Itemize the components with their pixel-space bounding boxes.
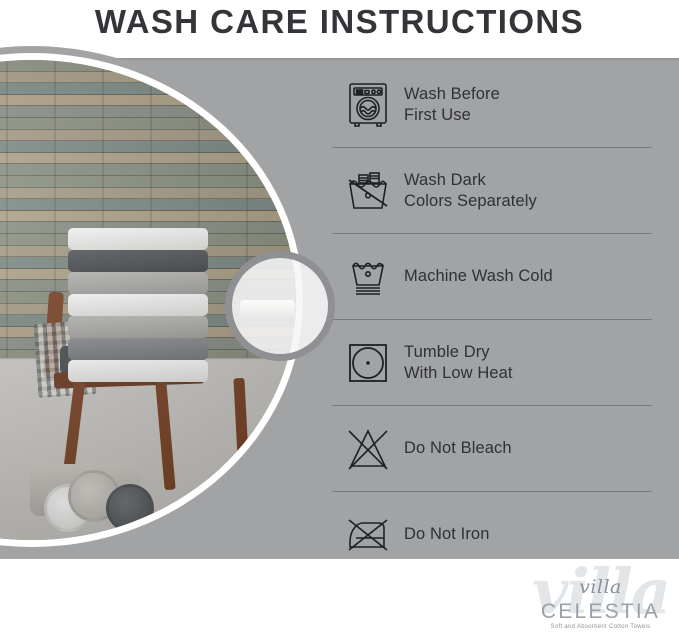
no-mixed-colors-wash-basin-icon [332, 167, 404, 215]
brand-logo: villa villa CELESTIA Soft and Absorbent … [528, 560, 673, 640]
instruction-row-do-not-bleach: Do Not Bleach [332, 406, 652, 492]
tumble-dry-low-heat-icon [332, 340, 404, 386]
instruction-label: Do Not Bleach [404, 438, 512, 459]
instruction-label: Wash Before First Use [404, 84, 500, 126]
instruction-label: Wash Dark Colors Separately [404, 170, 537, 212]
instruction-label: Do Not Iron [404, 524, 489, 545]
page-title: WASH CARE INSTRUCTIONS [0, 0, 679, 48]
instruction-label: Machine Wash Cold [404, 266, 553, 287]
logo-brand-name: CELESTIA [528, 600, 673, 624]
do-not-bleach-triangle-icon [332, 426, 404, 472]
instruction-row-wash-before-first-use: Wash Before First Use [332, 62, 652, 148]
instruction-row-machine-wash-cold: Machine Wash Cold [332, 234, 652, 320]
logo-script-name: villa [528, 576, 673, 598]
washing-machine-icon [332, 81, 404, 129]
instruction-label: Tumble Dry With Low Heat [404, 342, 513, 384]
logo-tagline: Soft and Absorbent Cotton Towels [528, 624, 673, 630]
instruction-row-tumble-dry-with-low-heat: Tumble Dry With Low Heat [332, 320, 652, 406]
instruction-row-wash-dark-colors-separately: Wash Dark Colors Separately [332, 148, 652, 234]
wash-tub-one-dot-icon [332, 255, 404, 299]
magnifier-circle [232, 258, 328, 354]
do-not-iron-icon [332, 513, 404, 557]
instruction-list: Wash Before First Use Wash Dark Colors S… [332, 62, 652, 577]
